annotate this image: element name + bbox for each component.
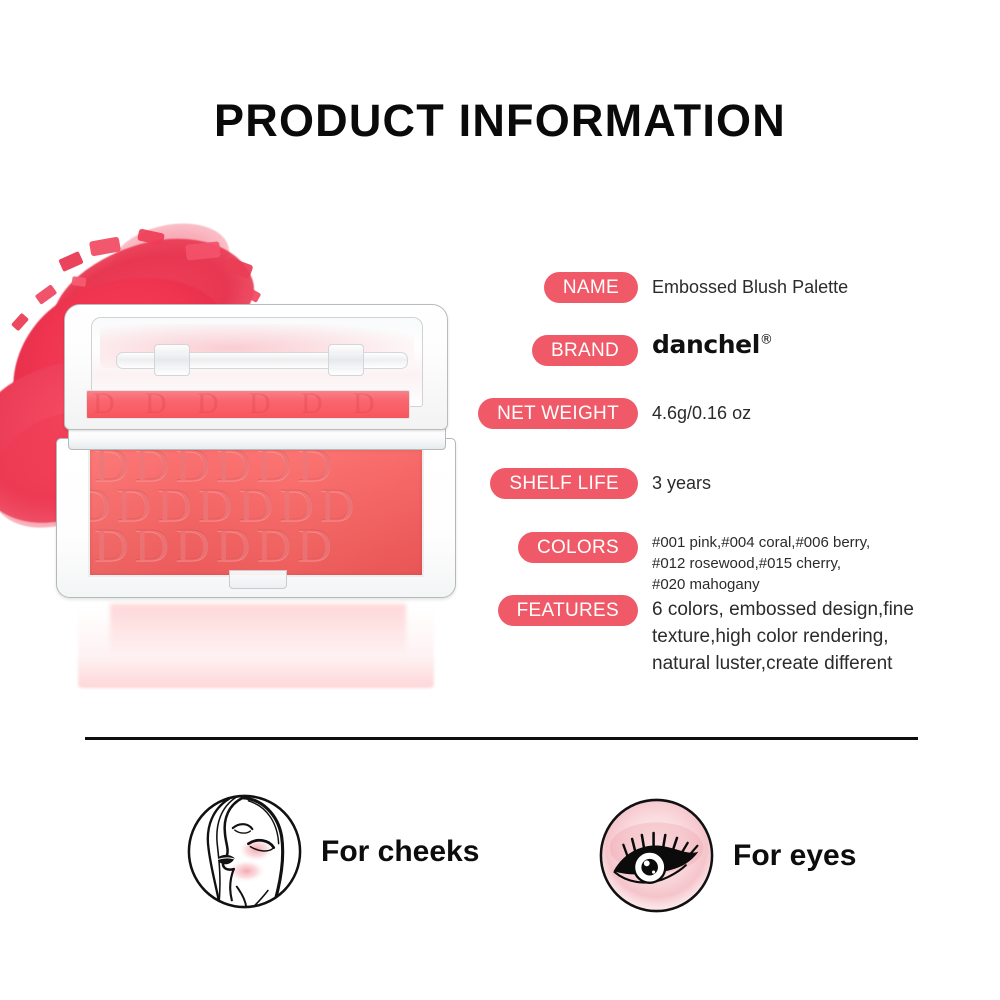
spec-value-shelf-life: 3 years [652,472,711,494]
brand-logo-text: danchel [652,330,760,359]
face-cheek-blush-icon [186,793,303,910]
eye-makeup-icon [598,797,715,914]
compact-reflection-powder [110,604,406,656]
spec-label-colors: COLORS [518,532,638,563]
usage-label-eyes: For eyes [733,839,856,873]
lid-powder-strip: D D D D D D [86,390,410,419]
spec-value-features: 6 colors, embossed design,fine texture,h… [652,596,914,677]
compact-clasp [229,570,287,589]
section-divider [85,737,918,740]
brand-logo: danchel® [652,330,773,359]
usage-label-cheeks: For cheeks [321,835,479,869]
spec-label-shelf-life: SHELF LIFE [490,468,638,499]
registered-trademark-icon: ® [760,333,773,348]
usage-item-eyes: For eyes [598,797,856,914]
product-image-blush-compact: DDDDDD DDDDDDD DDDDDD D D D [56,304,456,609]
spec-label-brand: BRAND [532,335,638,366]
spec-label-features: FEATURES [498,595,638,626]
spec-value-name: Embossed Blush Palette [652,276,848,298]
spec-value-net-weight: 4.6g/0.16 oz [652,402,751,424]
spec-value-colors: #001 pink,#004 coral,#006 berry, #012 ro… [652,532,870,595]
page-title: PRODUCT INFORMATION [0,98,1000,143]
blush-pan: DDDDDD DDDDDDD DDDDDD [88,448,424,577]
spec-label-net-weight: NET WEIGHT [478,398,638,429]
product-information-page: PRODUCT INFORMATION DDDDDD DDDDDD [0,0,1000,1000]
usage-item-cheeks: For cheeks [186,793,479,910]
spec-label-name: NAME [544,272,638,303]
